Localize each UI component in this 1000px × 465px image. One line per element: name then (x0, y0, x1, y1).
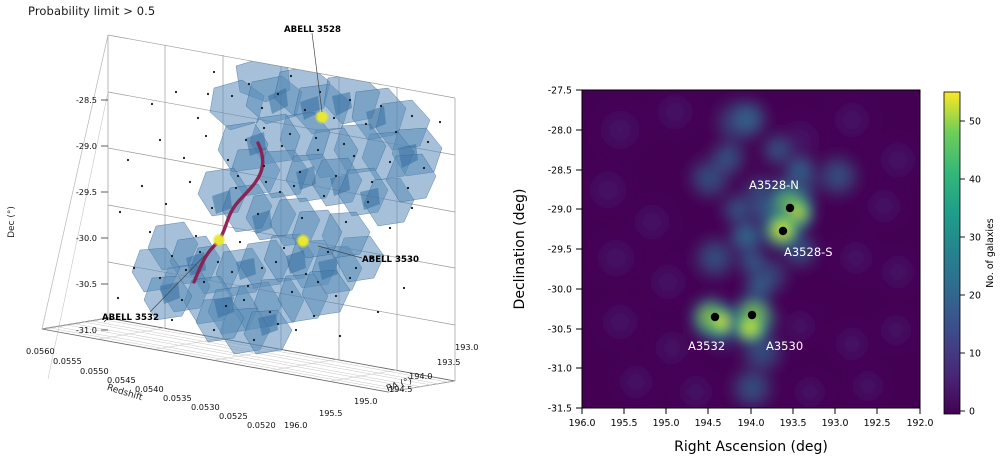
dec-map-tick-1: -28.0 (548, 126, 572, 137)
redshift-tick-5: 0.0535 (163, 393, 192, 403)
ra-map-tick-3: 194.5 (695, 418, 722, 429)
dec-axis: -28.5 -29.0 -29.5 -30.0 -30.5 -31.0 Dec … (7, 95, 108, 335)
ra-map-tick-8: 192.0 (907, 418, 934, 429)
dec-map-tick-0: -27.5 (548, 86, 572, 97)
cosmic-web-volume (117, 51, 443, 354)
colorbar: 0 10 20 30 40 50 No. of galaxies (944, 92, 996, 418)
redshift-tick-8: 0.0520 (247, 420, 276, 430)
abell-3532-label: ABELL 3532 (102, 313, 159, 323)
dec-map-tick-2: -28.5 (548, 166, 572, 177)
redshift-tick-7: 0.0525 (219, 411, 248, 421)
ra-map-tick-6: 193.0 (822, 418, 849, 429)
ra-map-tick-5: 193.5 (780, 418, 807, 429)
dec-map-tick-7: -31.0 (548, 364, 572, 375)
dec-tick-5: -31.0 (76, 325, 97, 335)
colorbar-tick-3: 30 (969, 233, 981, 244)
dec-map-tick-3: -29.0 (548, 205, 572, 216)
ra-tick-1: 195.5 (319, 408, 342, 418)
abell-3530-label: ABELL 3530 (362, 255, 419, 265)
redshift-tick-6: 0.0530 (191, 402, 220, 412)
annotation-a3530: A3530 (766, 339, 803, 353)
colorbar-tick-5: 50 (969, 117, 981, 128)
declination-axis-label: Declination (deg) (512, 189, 528, 310)
density-field (576, 82, 928, 420)
annotation-a3528-s: A3528-S (784, 245, 833, 259)
dec-map-tick-6: -30.5 (548, 325, 572, 336)
colorbar-label: No. of galaxies (985, 218, 996, 288)
marker-a3530 (748, 311, 756, 319)
dec-tick-1: -29.0 (76, 141, 97, 151)
colorbar-gradient (944, 92, 960, 414)
right-ascension-axis: 196.0 195.5 195.0 194.5 194.0 193.5 193.… (569, 408, 934, 455)
ra-map-tick-1: 195.5 (611, 418, 638, 429)
marker-a3528-n (786, 204, 794, 212)
ra-map-tick-7: 192.5 (864, 418, 891, 429)
redshift-tick-1: 0.0555 (53, 356, 82, 366)
redshift-tick-0: 0.0560 (26, 346, 55, 356)
ra-tick-4: 194.0 (409, 371, 432, 381)
declination-axis: -27.5 -28.0 -28.5 -29.0 -29.5 -30.0 -30.… (512, 86, 582, 415)
redshift-tick-2: 0.0550 (80, 366, 109, 376)
ra-tick-2: 195.0 (354, 396, 377, 406)
dec-map-tick-8: -31.5 (548, 404, 572, 415)
colorbar-tick-4: 40 (969, 175, 981, 186)
marker-a3528-s (779, 227, 787, 235)
ra-tick-0: 196.0 (284, 420, 307, 430)
density-map-panel: A3528-N A3528-S A3532 A3530 -27.5 -28.0 … (500, 0, 1000, 465)
ra-map-tick-0: 196.0 (569, 418, 596, 429)
three-d-plot-panel: Probability limit > 0.5 (0, 0, 500, 465)
dec-map-tick-4: -29.5 (548, 245, 572, 256)
ra-tick-5: 193.5 (437, 357, 460, 367)
dec-axis-label: Dec (°) (7, 206, 17, 238)
ra-map-tick-2: 195.0 (653, 418, 680, 429)
marker-a3532 (711, 313, 719, 321)
colorbar-tick-0: 0 (969, 407, 975, 418)
ra-tick-6: 193.0 (455, 342, 478, 352)
annotation-a3528-n: A3528-N (749, 178, 799, 192)
colorbar-tick-1: 10 (969, 349, 981, 360)
dec-map-tick-5: -30.0 (548, 285, 572, 296)
ra-map-tick-4: 194.0 (738, 418, 765, 429)
figure-root: Probability limit > 0.5 (0, 0, 1000, 465)
three-d-plot-svg: -28.5 -29.0 -29.5 -30.0 -30.5 -31.0 Dec … (0, 0, 500, 465)
density-map-svg: A3528-N A3528-S A3532 A3530 -27.5 -28.0 … (500, 0, 1000, 465)
dec-tick-4: -30.5 (76, 279, 97, 289)
dec-tick-0: -28.5 (76, 95, 97, 105)
dec-tick-2: -29.5 (76, 187, 97, 197)
abell-3528-label: ABELL 3528 (284, 25, 341, 35)
annotation-a3532: A3532 (688, 339, 725, 353)
right-ascension-axis-label: Right Ascension (deg) (674, 439, 828, 455)
dec-tick-3: -30.0 (76, 233, 97, 243)
colorbar-tick-2: 20 (969, 291, 981, 302)
